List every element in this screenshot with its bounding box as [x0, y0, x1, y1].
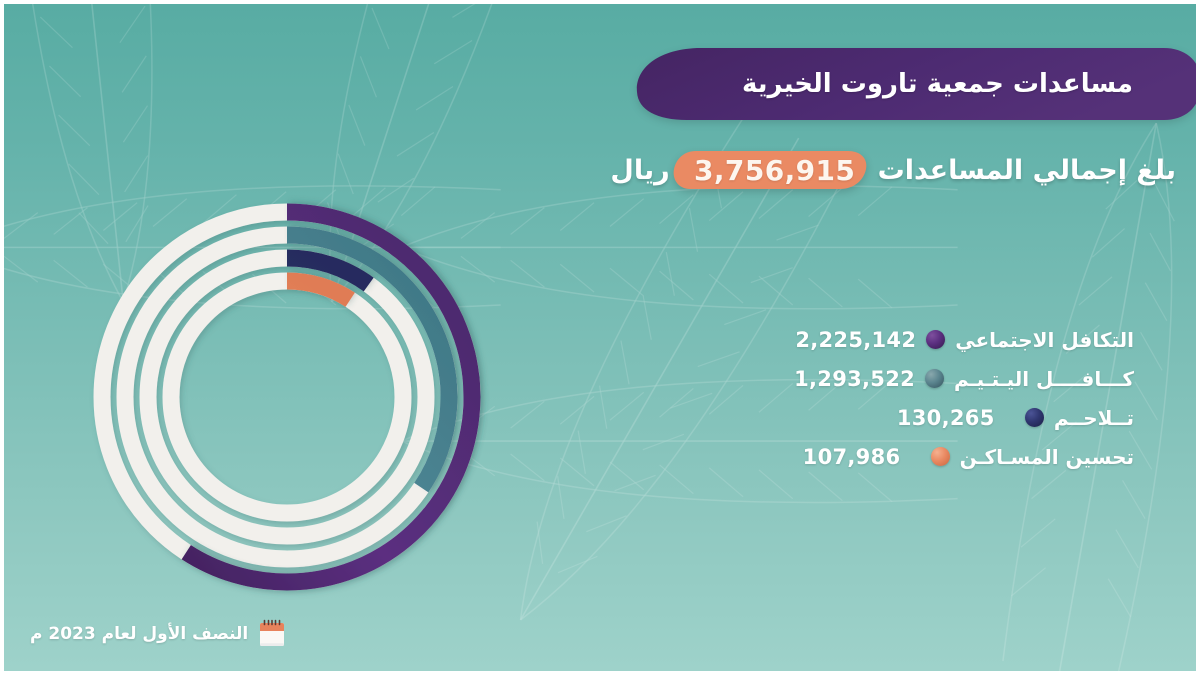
infographic-canvas: مساعدات جمعية تاروت الخيرية بلغ إجمالي ا… — [0, 0, 1200, 675]
legend-label: تحسين المسـاكـن — [960, 445, 1134, 469]
total-label: بلغ إجمالي المساعدات — [878, 155, 1176, 186]
legend-value: 1,293,522 — [794, 367, 915, 391]
legend-item-housing-improvement[interactable]: تحسين المسـاكـن 107,986 — [794, 439, 1134, 474]
legend-color-dot — [925, 369, 944, 388]
footer-period-text: النصف الأول لعام 2023 م — [30, 624, 248, 644]
legend-label: تــلاحــم — [1054, 406, 1134, 430]
title-banner: مساعدات جمعية تاروت الخيرية — [635, 48, 1200, 120]
legend-label: كـــافــــل اليـتـيـم — [954, 367, 1134, 391]
footer-period: النصف الأول لعام 2023 م — [30, 619, 286, 649]
total-assistance-row: بلغ إجمالي المساعدات 3,756,915 ريال — [610, 144, 1176, 196]
calendar-icon — [258, 619, 286, 649]
legend-label: التكافل الاجتماعي — [955, 328, 1134, 352]
chart-legend: التكافل الاجتماعي 2,225,142 كـــافــــل … — [794, 322, 1134, 474]
legend-color-dot — [926, 330, 945, 349]
total-amount-badge: 3,756,915 — [680, 147, 870, 193]
legend-item-orphan-sponsor[interactable]: كـــافــــل اليـتـيـم 1,293,522 — [794, 361, 1134, 396]
track-ring-4 — [171, 281, 403, 513]
legend-value: 130,265 — [897, 406, 1015, 430]
legend-item-social-solidarity[interactable]: التكافل الاجتماعي 2,225,142 — [794, 322, 1134, 357]
track-ring-3 — [148, 258, 426, 536]
legend-item-talahum[interactable]: تــلاحــم 130,265 — [794, 400, 1134, 435]
banner-title-text: مساعدات جمعية تاروت الخيرية — [635, 48, 1200, 120]
total-amount-value: 3,756,915 — [694, 154, 855, 187]
legend-value: 2,225,142 — [795, 328, 916, 352]
radial-bar-chart — [82, 192, 492, 602]
legend-color-dot — [1025, 408, 1044, 427]
legend-color-dot — [931, 447, 950, 466]
legend-value: 107,986 — [803, 445, 921, 469]
total-currency-label: ريال — [610, 155, 669, 186]
